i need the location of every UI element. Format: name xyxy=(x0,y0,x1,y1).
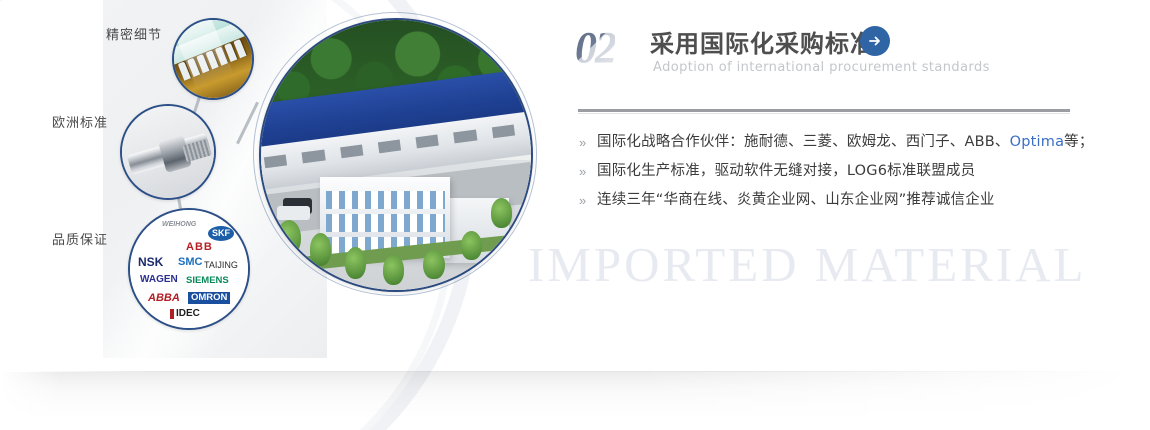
label-precision-detail: 精密细节 xyxy=(106,24,162,43)
divider-thin xyxy=(578,113,1070,114)
logo-idec: IDEC xyxy=(170,309,200,319)
divider-thick xyxy=(578,109,1070,112)
tree xyxy=(383,255,405,285)
list-item-text: 国际化战略合作伙伴：施耐德、三菱、欧姆龙、西门子、ABB、Optima等； xyxy=(597,128,1094,157)
logo-wagen: WAGEN xyxy=(140,275,178,285)
tree xyxy=(461,231,483,261)
tree xyxy=(310,233,332,265)
floor-shadow xyxy=(0,372,1150,430)
arrow-right-icon[interactable] xyxy=(860,26,890,56)
section-number: 02 xyxy=(575,22,615,73)
tree xyxy=(491,198,513,228)
feature-list: » 国际化战略合作伙伴：施耐德、三菱、欧姆龙、西门子、ABB、Optima等； … xyxy=(575,128,1075,215)
logo-abba: ABBA xyxy=(148,293,180,304)
list-item-text: 连续三年“华商在线、炎黄企业网、山东企业网”推荐诚信企业 xyxy=(597,186,995,215)
list-item: » 连续三年“华商在线、炎黄企业网、山东企业网”推荐诚信企业 xyxy=(575,186,1075,215)
logo-taijing: TAIJING xyxy=(204,261,238,270)
label-european-standard: 欧洲标准 xyxy=(52,112,108,131)
page-title: 采用国际化采购标准 xyxy=(650,24,875,59)
logo-collage: WEIHONG SKF ABB NSK SMC TAIJING WAGEN SI… xyxy=(130,210,248,328)
list-item-text: 国际化生产标准，驱动软件无缝对接，LOG6标准联盟成员 xyxy=(597,157,975,186)
content-column: 02 采用国际化采购标准 Adoption of international p… xyxy=(575,18,1075,90)
tree xyxy=(423,250,445,280)
list-item-highlight: Optima xyxy=(1010,134,1065,150)
ball-screw-image xyxy=(122,106,214,198)
list-item-text-main: 国际化战略合作伙伴：施耐德、三菱、欧姆龙、西门子、ABB、 xyxy=(597,134,1010,150)
logo-nsk: NSK xyxy=(138,256,163,268)
chevron-right-icon: » xyxy=(579,128,586,157)
list-item: » 国际化生产标准，驱动软件无缝对接，LOG6标准联盟成员 xyxy=(575,157,1075,186)
label-quality-guarantee: 品质保证 xyxy=(52,229,108,248)
chevron-right-icon: » xyxy=(579,157,586,186)
logo-siemens: SIEMENS xyxy=(186,276,229,286)
list-item-text-tail: 等； xyxy=(1064,134,1093,150)
list-item-text-main: 国际化生产标准，驱动软件无缝对接，LOG6标准联盟成员 xyxy=(597,163,975,179)
precision-detail-photo xyxy=(172,18,254,100)
factory-image xyxy=(261,20,531,290)
logo-smc: SMC xyxy=(178,257,202,268)
watermark-text: IMPORTED MATERIAL xyxy=(528,236,1128,293)
logo-skf: SKF xyxy=(208,226,234,241)
logo-weihong: WEIHONG xyxy=(162,221,196,228)
european-standard-photo xyxy=(120,104,216,200)
logo-abb: ABB xyxy=(186,242,213,253)
brand-logos-photo: WEIHONG SKF ABB NSK SMC TAIJING WAGEN SI… xyxy=(128,208,250,330)
chevron-right-icon: » xyxy=(579,186,586,215)
tree xyxy=(345,247,367,279)
logo-omron: OMRON xyxy=(188,292,230,304)
gear-macro-image xyxy=(174,20,252,98)
promo-banner: 精密细节 欧洲标准 品质保证 WEIHONG SKF ABB NSK SMC T… xyxy=(0,0,1150,430)
page-subtitle: Adoption of international procurement st… xyxy=(653,60,990,75)
tree xyxy=(277,220,301,255)
section-header: 02 采用国际化采购标准 Adoption of international p… xyxy=(575,18,1075,90)
list-item-text-main: 连续三年“华商在线、炎黄企业网、山东企业网”推荐诚信企业 xyxy=(597,192,995,208)
list-item: » 国际化战略合作伙伴：施耐德、三菱、欧姆龙、西门子、ABB、Optima等； xyxy=(575,128,1075,157)
factory-aerial-photo xyxy=(259,18,533,292)
